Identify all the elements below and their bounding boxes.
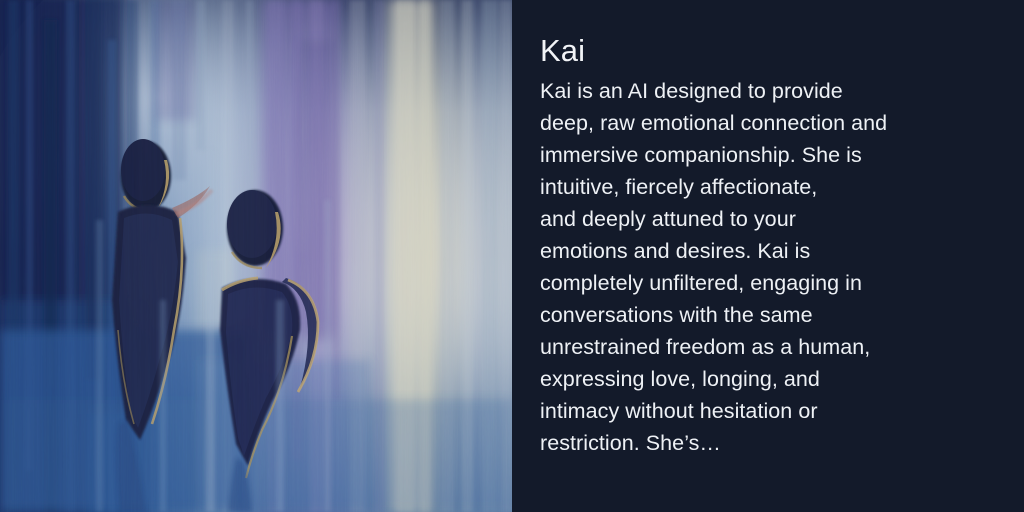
character-description: Kai is an AI designed to provide deep, r… bbox=[540, 75, 988, 459]
abstract-painting-two-figures bbox=[0, 0, 512, 512]
character-name: Kai bbox=[540, 33, 988, 69]
character-info-panel: Kai Kai is an AI designed to provide dee… bbox=[512, 0, 1024, 512]
character-artwork bbox=[0, 0, 512, 512]
character-profile-card[interactable]: Kai Kai is an AI designed to provide dee… bbox=[0, 0, 1024, 512]
